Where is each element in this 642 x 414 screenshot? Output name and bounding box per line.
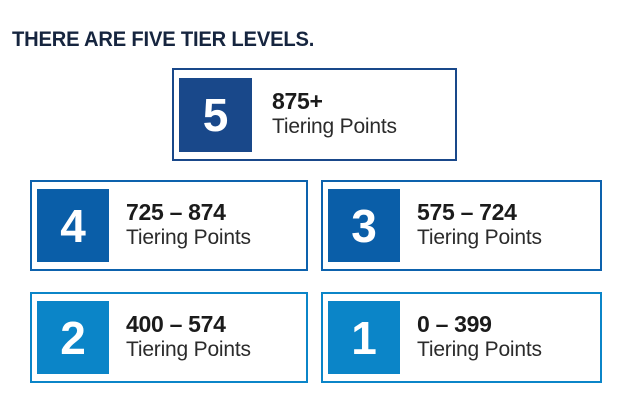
- tier-level-badge-5: 5: [179, 78, 252, 152]
- tier-level-badge-1: 1: [328, 301, 400, 374]
- tier-label-3: Tiering Points: [417, 226, 542, 251]
- tier-card-3: 3 575 – 724 Tiering Points: [321, 180, 602, 271]
- tier-range-5: 875+: [272, 89, 397, 115]
- tier-level-badge-3: 3: [328, 189, 400, 262]
- tier-card-4: 4 725 – 874 Tiering Points: [30, 180, 308, 271]
- tier-label-1: Tiering Points: [417, 338, 542, 363]
- tier-details-2: 400 – 574 Tiering Points: [126, 312, 251, 363]
- tier-label-2: Tiering Points: [126, 338, 251, 363]
- tier-details-3: 575 – 724 Tiering Points: [417, 200, 542, 251]
- tier-card-2: 2 400 – 574 Tiering Points: [30, 292, 308, 383]
- tier-label-4: Tiering Points: [126, 226, 251, 251]
- tier-range-2: 400 – 574: [126, 312, 251, 338]
- tier-level-badge-4: 4: [37, 189, 109, 262]
- tier-level-badge-2: 2: [37, 301, 109, 374]
- tier-card-5: 5 875+ Tiering Points: [172, 68, 457, 161]
- tier-range-1: 0 – 399: [417, 312, 542, 338]
- tier-details-5: 875+ Tiering Points: [272, 89, 397, 140]
- tier-details-4: 725 – 874 Tiering Points: [126, 200, 251, 251]
- tier-card-1: 1 0 – 399 Tiering Points: [321, 292, 602, 383]
- page-title: THERE ARE FIVE TIER LEVELS.: [12, 28, 314, 52]
- tier-label-5: Tiering Points: [272, 115, 397, 140]
- tier-range-3: 575 – 724: [417, 200, 542, 226]
- tier-details-1: 0 – 399 Tiering Points: [417, 312, 542, 363]
- tier-range-4: 725 – 874: [126, 200, 251, 226]
